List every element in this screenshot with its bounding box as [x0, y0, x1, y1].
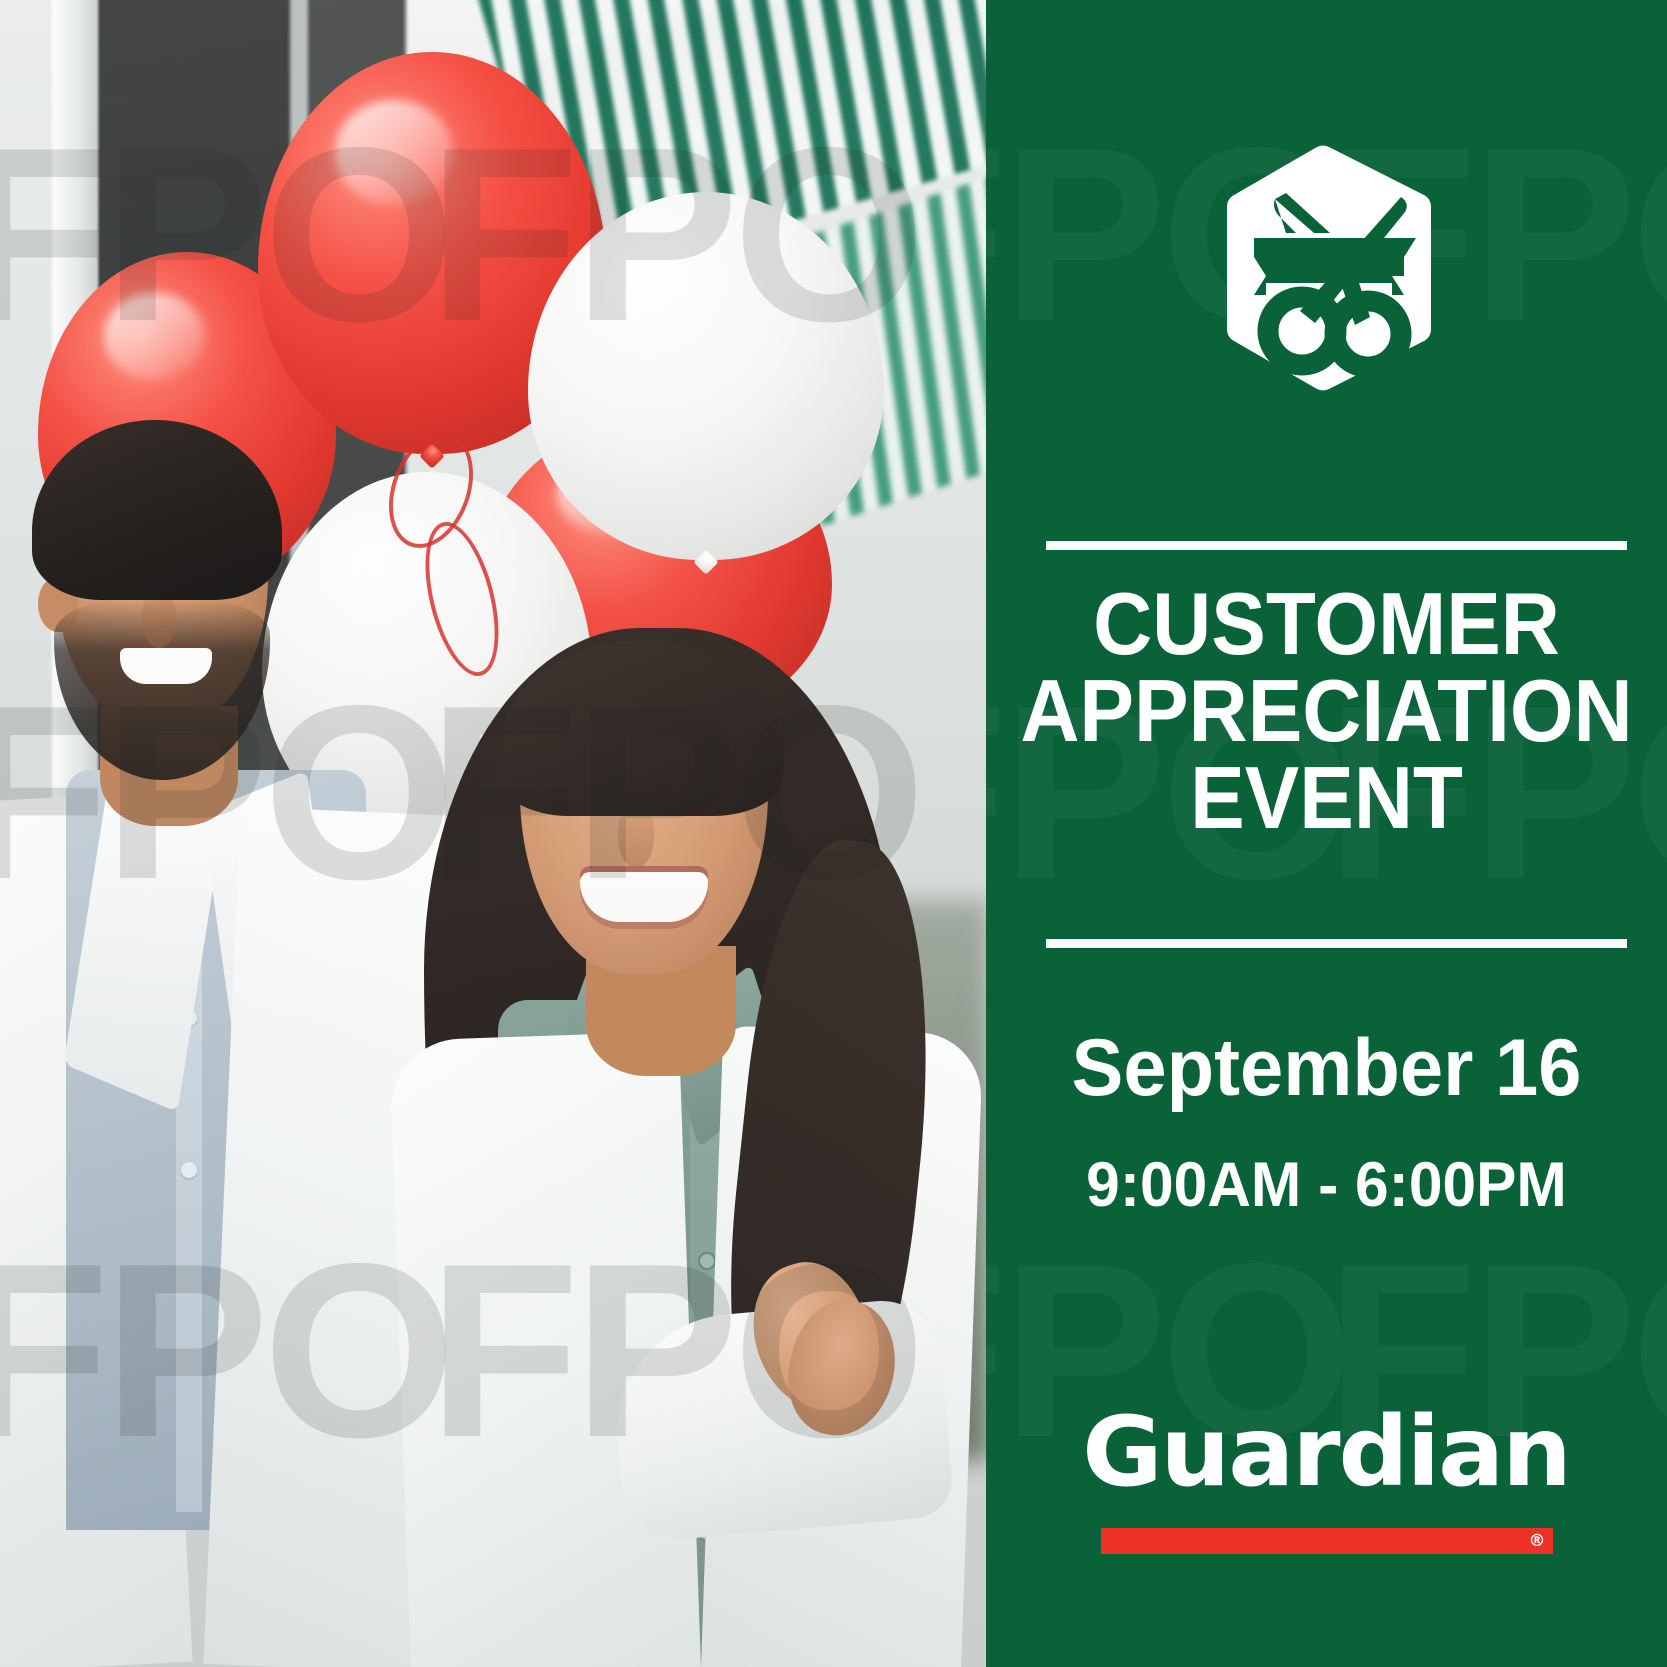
guardian-logo-bar: ®	[1101, 1528, 1553, 1554]
shirt-button	[181, 1162, 197, 1178]
event-time: 9:00AM - 6:00PM	[1000, 1154, 1654, 1217]
promotional-poster: FPO FPO FPO FPO FPO FPO FPO FPO FPO FPO …	[0, 0, 1667, 1667]
event-date: September 16	[1000, 1028, 1654, 1109]
blouse-button	[698, 1252, 716, 1270]
page-title: CUSTOMER APPRECIATION EVENT	[1010, 580, 1643, 841]
registered-trademark-icon: ®	[1529, 1531, 1546, 1551]
guardian-logo: Guardian	[986, 1404, 1667, 1500]
guardian-logo-bar-wrap: ®	[986, 1528, 1667, 1559]
pharmacist-female-smile	[580, 872, 708, 922]
balloon-highlight	[606, 236, 727, 332]
headline-line-3: EVENT	[1010, 754, 1643, 841]
divider-top	[1046, 541, 1627, 550]
ribbon-cutting-scissors-hexagon-icon	[1218, 145, 1440, 391]
divider-bottom	[1046, 939, 1627, 948]
headline-line-1: CUSTOMER	[1010, 580, 1643, 667]
pharmacist-male-nose	[142, 592, 176, 648]
info-panel: FPO FPO FPO FPO FPO FPO	[986, 0, 1667, 1667]
headline-line-2: APPRECIATION	[1010, 667, 1643, 754]
photo-stage	[0, 0, 986, 1667]
balloon-highlight	[335, 100, 453, 205]
event-photo: FPO FPO FPO FPO FPO FPO	[0, 0, 986, 1667]
pharmacist-male-smile	[120, 648, 212, 684]
balloon-highlight	[104, 293, 205, 381]
panel-content: CUSTOMER APPRECIATION EVENT September 16…	[986, 0, 1667, 1667]
guardian-wordmark: Guardian	[1083, 1404, 1571, 1500]
